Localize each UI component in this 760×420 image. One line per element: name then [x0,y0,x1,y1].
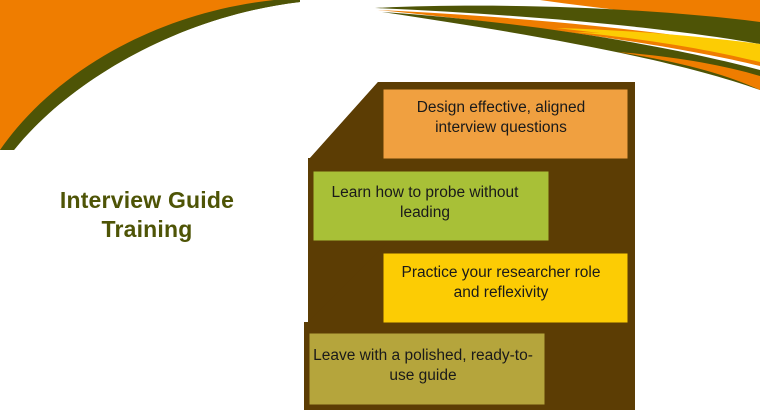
funnel-step-2-label: Learn how to probe without leading [311,168,539,238]
slide-canvas: Interview Guide Training [0,0,760,420]
page-title: Interview Guide Training [18,186,276,245]
swoosh-orange-shape [0,0,300,150]
ribbon-olive-upper [375,6,760,44]
page-title-line-2: Training [18,215,276,244]
ribbon-yellow [556,28,760,58]
page-title-line-1: Interview Guide [18,186,276,215]
funnel-wedge-top-left [310,82,378,158]
corner-swoosh-top-left [0,0,300,155]
ribbon-orange-mid [378,10,760,66]
ribbon-orange-upper [540,0,760,26]
swoosh-olive-band [0,0,300,150]
swoosh-olive-shape [0,0,300,150]
funnel-step-4-label: Leave with a polished, ready-to-use guid… [304,330,542,402]
funnel-step-3-label: Practice your researcher role and reflex… [382,248,620,318]
ribbon-yellow-lower [575,32,760,62]
funnel-step-1-label: Design effective, aligned interview ques… [382,83,620,153]
